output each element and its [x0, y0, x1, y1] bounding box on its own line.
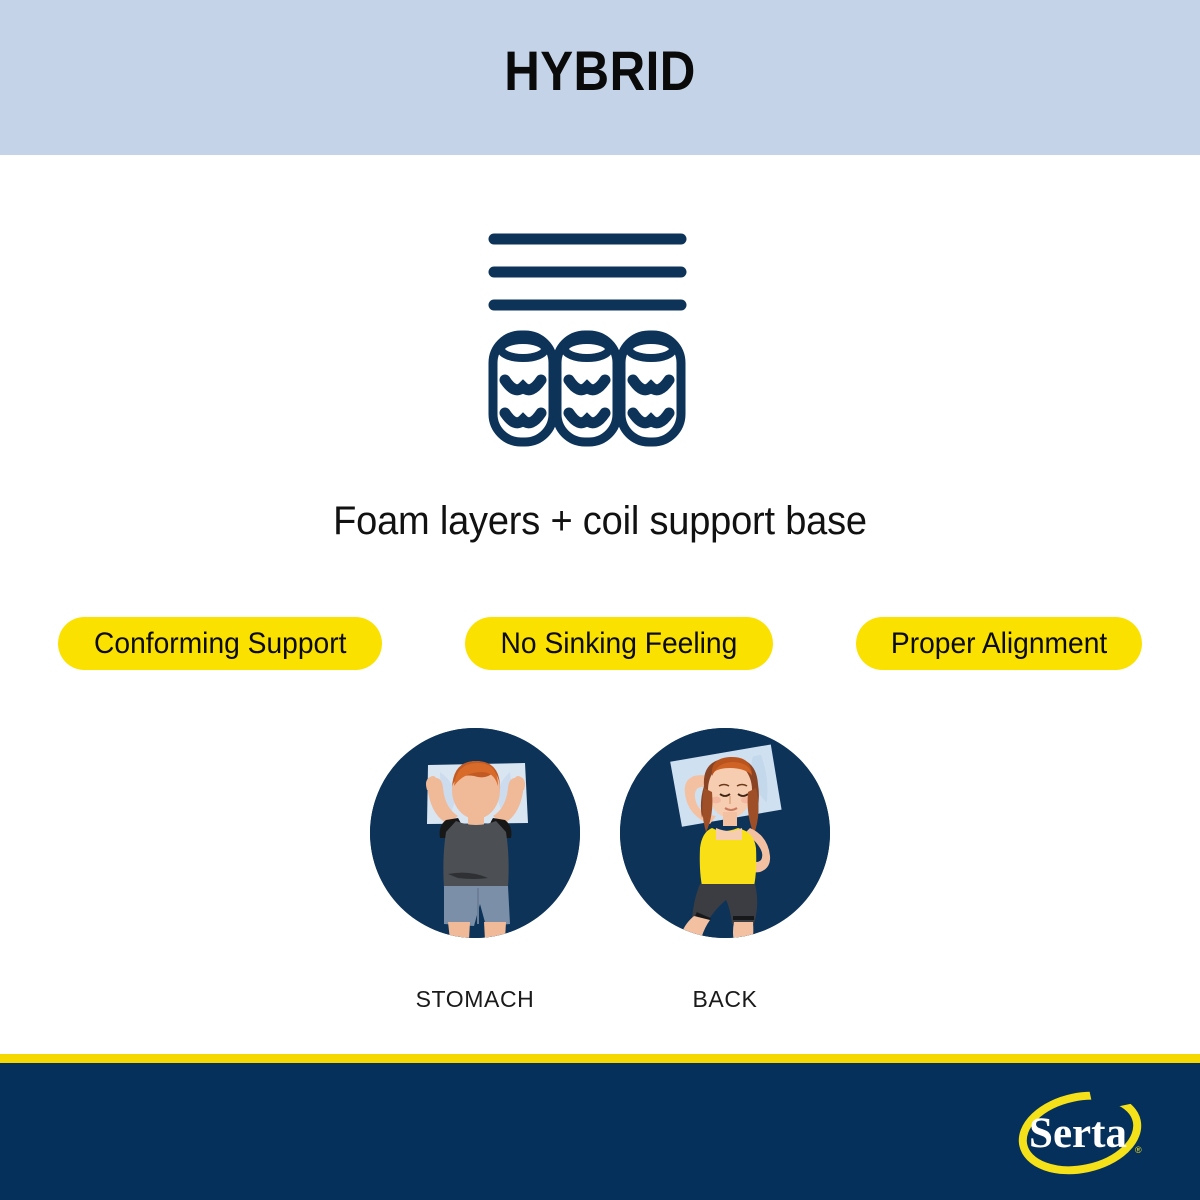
face	[708, 757, 752, 818]
hybrid-mattress-infographic: HYBRID	[0, 0, 1200, 1200]
header-band: HYBRID	[0, 0, 1200, 155]
benefit-pill-label: Conforming Support	[94, 629, 346, 659]
hybrid-icon-container	[0, 225, 1200, 450]
sleep-position-back[interactable]: BACK	[619, 728, 831, 1013]
coil-1	[493, 335, 553, 442]
hybrid-mattress-icon	[485, 225, 715, 450]
serta-trademark-symbol: ®	[1135, 1145, 1142, 1155]
subtitle-text: Foam layers + coil support base	[30, 498, 1170, 544]
back-sleeper-circle	[620, 728, 830, 938]
coil-3	[621, 335, 681, 442]
coil-2	[557, 335, 617, 442]
benefit-pill-conforming-support[interactable]: Conforming Support	[58, 617, 382, 670]
sleep-position-label: BACK	[692, 986, 757, 1013]
serta-logo[interactable]: Serta ®	[1002, 1085, 1162, 1181]
benefit-pill-proper-alignment[interactable]: Proper Alignment	[856, 617, 1142, 670]
stomach-sleeper-circle	[370, 728, 580, 938]
benefit-pill-row: Conforming Support No Sinking Feeling Pr…	[58, 617, 1142, 670]
page-title: HYBRID	[72, 43, 1128, 99]
torso-shirt	[443, 821, 508, 888]
benefit-pill-no-sinking-feeling[interactable]: No Sinking Feeling	[465, 617, 773, 670]
footer-accent-stripe	[0, 1054, 1200, 1063]
head	[452, 761, 500, 819]
sleep-position-stomach[interactable]: STOMACH	[369, 728, 581, 1013]
man-sleeping-on-stomach-illustration	[370, 728, 580, 938]
shorts	[444, 886, 510, 926]
serta-wordmark: Serta	[1029, 1110, 1127, 1157]
tank-top	[700, 828, 757, 886]
sleep-position-label: STOMACH	[416, 986, 535, 1013]
benefit-pill-label: No Sinking Feeling	[501, 629, 738, 659]
serta-logo-mark: Serta ®	[1002, 1085, 1162, 1181]
benefit-pill-label: Proper Alignment	[891, 629, 1107, 659]
woman-sleeping-on-back-illustration	[620, 728, 830, 938]
sleep-positions-row: STOMACH	[0, 728, 1200, 1013]
